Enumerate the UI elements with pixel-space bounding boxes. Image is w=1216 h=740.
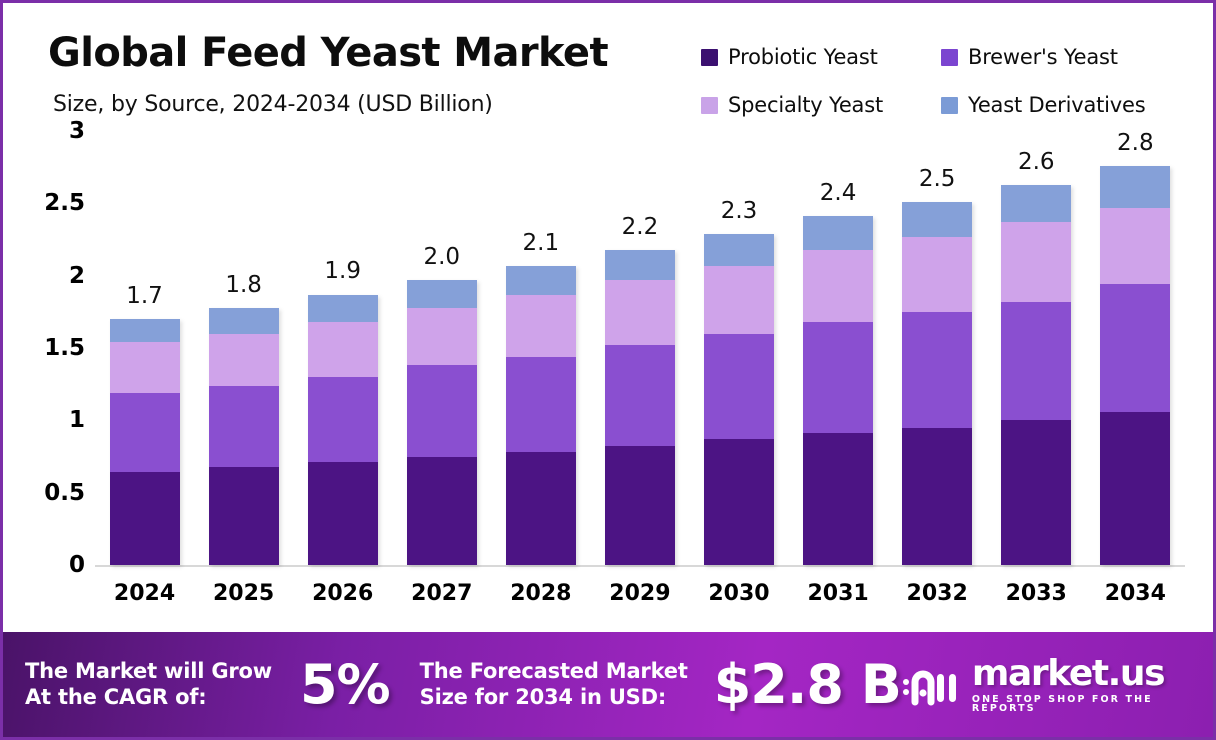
bar-segment-2026-probiotic-yeast [308, 462, 378, 565]
bar-total-label-2025: 1.8 [194, 272, 293, 298]
bar-column-2026[interactable]: 1.9 [293, 131, 392, 565]
bar-total-label-2027: 2.0 [392, 244, 491, 270]
bar-segment-2030-brewer-s-yeast [704, 334, 774, 440]
chart-header: Global Feed Yeast Market Size, by Source… [3, 3, 1213, 131]
legend-label-2: Specialty Yeast [728, 93, 883, 117]
bar-segment-2034-yeast-derivatives [1100, 166, 1170, 208]
y-axis-tick-0: 0 [69, 552, 85, 578]
chart-legend: Probiotic YeastBrewer's YeastSpecialty Y… [701, 33, 1201, 129]
bar-total-label-2029: 2.2 [590, 214, 689, 240]
infographic-root: Global Feed Yeast Market Size, by Source… [0, 0, 1216, 740]
x-axis-label-2031: 2031 [789, 581, 888, 606]
legend-label-3: Yeast Derivatives [968, 93, 1146, 117]
bar-segment-2030-yeast-derivatives [704, 234, 774, 266]
x-axis-baseline [95, 565, 1185, 567]
bar-segment-2025-probiotic-yeast [209, 467, 279, 565]
x-axis-label-2033: 2033 [987, 581, 1086, 606]
legend-swatch-specialty-yeast [701, 97, 718, 114]
legend-swatch-yeast-derivatives [941, 97, 958, 114]
bar-total-label-2030: 2.3 [690, 198, 789, 224]
bar-segment-2031-probiotic-yeast [803, 433, 873, 565]
x-axis-label-2024: 2024 [95, 581, 194, 606]
bar-segment-2031-brewer-s-yeast [803, 322, 873, 433]
cagr-block: The Market will Grow At the CAGR of: 5% [25, 653, 390, 716]
bar-segment-2026-brewer-s-yeast [308, 377, 378, 462]
bar-segment-2024-yeast-derivatives [110, 319, 180, 342]
bar-total-label-2028: 2.1 [491, 230, 590, 256]
bar-segment-2024-brewer-s-yeast [110, 393, 180, 473]
legend-swatch-brewers-yeast [941, 49, 958, 66]
bar-stack-2025 [209, 308, 279, 565]
legend-label-1: Brewer's Yeast [968, 45, 1118, 69]
y-axis-tick-6: 3 [69, 118, 85, 144]
bar-segment-2027-yeast-derivatives [407, 280, 477, 307]
x-axis-label-2025: 2025 [194, 581, 293, 606]
bar-segment-2027-specialty-yeast [407, 308, 477, 366]
logo-tagline: ONE STOP SHOP FOR THE REPORTS [972, 695, 1195, 714]
bar-segment-2026-yeast-derivatives [308, 295, 378, 322]
legend-item-0[interactable]: Probiotic Yeast [701, 45, 941, 69]
x-axis-label-2028: 2028 [491, 581, 590, 606]
bar-segment-2028-probiotic-yeast [506, 452, 576, 565]
y-axis-tick-4: 2 [69, 263, 85, 289]
bar-stack-2031 [803, 216, 873, 565]
bar-column-2024[interactable]: 1.7 [95, 131, 194, 565]
market-us-logo-icon [901, 662, 961, 708]
bar-column-2027[interactable]: 2.0 [392, 131, 491, 565]
x-axis-label-2027: 2027 [392, 581, 491, 606]
bar-total-label-2026: 1.9 [293, 258, 392, 284]
bar-segment-2034-brewer-s-yeast [1100, 284, 1170, 411]
bar-segment-2032-specialty-yeast [902, 237, 972, 312]
x-axis-label-2034: 2034 [1086, 581, 1185, 606]
bottom-banner: The Market will Grow At the CAGR of: 5% … [3, 632, 1213, 737]
bar-segment-2026-specialty-yeast [308, 322, 378, 377]
bar-segment-2030-specialty-yeast [704, 266, 774, 334]
legend-item-2[interactable]: Specialty Yeast [701, 93, 941, 117]
bar-segment-2033-brewer-s-yeast [1001, 302, 1071, 421]
bar-column-2034[interactable]: 2.8 [1086, 131, 1185, 565]
x-axis-label-2029: 2029 [590, 581, 689, 606]
bar-segment-2031-specialty-yeast [803, 250, 873, 322]
bar-total-label-2031: 2.4 [789, 180, 888, 206]
market-us-logo[interactable]: market.us ONE STOP SHOP FOR THE REPORTS [901, 656, 1195, 714]
bar-segment-2031-yeast-derivatives [803, 216, 873, 249]
bar-segment-2033-probiotic-yeast [1001, 420, 1071, 565]
bar-segment-2028-yeast-derivatives [506, 266, 576, 295]
bar-total-label-2033: 2.6 [987, 149, 1086, 175]
bar-total-label-2024: 1.7 [95, 283, 194, 309]
bar-stack-2027 [407, 280, 477, 565]
y-axis-tick-3: 1.5 [44, 335, 85, 361]
bar-stack-2034 [1100, 166, 1170, 565]
legend-swatch-probiotic-yeast [701, 49, 718, 66]
chart-subtitle: Size, by Source, 2024-2034 (USD Billion) [53, 92, 493, 117]
bar-column-2025[interactable]: 1.8 [194, 131, 293, 565]
bar-segment-2032-yeast-derivatives [902, 202, 972, 237]
legend-label-0: Probiotic Yeast [728, 45, 878, 69]
x-axis-label-2032: 2032 [888, 581, 987, 606]
page-title: Global Feed Yeast Market [48, 30, 608, 76]
legend-item-1[interactable]: Brewer's Yeast [941, 45, 1191, 69]
bar-stack-2028 [506, 266, 576, 565]
bar-segment-2024-probiotic-yeast [110, 472, 180, 565]
x-axis-label-2030: 2030 [690, 581, 789, 606]
bar-segment-2033-yeast-derivatives [1001, 185, 1071, 223]
forecast-label: The Forecasted Market Size for 2034 in U… [420, 659, 688, 710]
bar-column-2032[interactable]: 2.5 [888, 131, 987, 565]
bar-column-2030[interactable]: 2.3 [690, 131, 789, 565]
bar-stack-2030 [704, 234, 774, 565]
bar-column-2031[interactable]: 2.4 [789, 131, 888, 565]
bar-segment-2029-probiotic-yeast [605, 446, 675, 565]
bar-column-2033[interactable]: 2.6 [987, 131, 1086, 565]
y-axis-tick-1: 0.5 [44, 480, 85, 506]
bar-stack-2032 [902, 202, 972, 565]
forecast-label-line1: The Forecasted Market [420, 659, 688, 683]
bar-group: 1.71.81.92.02.12.22.32.42.52.62.8 [95, 131, 1185, 565]
bar-segment-2025-brewer-s-yeast [209, 386, 279, 467]
bar-stack-2033 [1001, 185, 1071, 565]
bar-segment-2025-specialty-yeast [209, 334, 279, 386]
bar-segment-2028-brewer-s-yeast [506, 357, 576, 452]
bar-total-label-2034: 2.8 [1086, 130, 1185, 156]
bar-segment-2030-probiotic-yeast [704, 439, 774, 565]
bar-segment-2027-brewer-s-yeast [407, 365, 477, 456]
forecast-block: The Forecasted Market Size for 2034 in U… [420, 653, 901, 716]
bar-segment-2029-specialty-yeast [605, 280, 675, 345]
cagr-label: The Market will Grow At the CAGR of: [25, 659, 272, 710]
bar-column-2029[interactable]: 2.2 [590, 131, 689, 565]
forecast-label-line2: Size for 2034 in USD: [420, 685, 666, 709]
bar-stack-2024 [110, 319, 180, 565]
bar-stack-2026 [308, 295, 378, 566]
y-axis-tick-2: 1 [69, 407, 85, 433]
bar-total-label-2032: 2.5 [888, 166, 987, 192]
legend-item-3[interactable]: Yeast Derivatives [941, 93, 1191, 117]
bar-segment-2027-probiotic-yeast [407, 457, 477, 566]
bar-segment-2024-specialty-yeast [110, 342, 180, 393]
bar-segment-2033-specialty-yeast [1001, 222, 1071, 302]
bar-segment-2034-probiotic-yeast [1100, 412, 1170, 565]
bar-segment-2029-brewer-s-yeast [605, 345, 675, 446]
bar-segment-2028-specialty-yeast [506, 295, 576, 357]
bar-column-2028[interactable]: 2.1 [491, 131, 590, 565]
bar-segment-2029-yeast-derivatives [605, 250, 675, 280]
cagr-value: 5% [300, 653, 390, 716]
bar-segment-2034-specialty-yeast [1100, 208, 1170, 285]
bar-segment-2025-yeast-derivatives [209, 308, 279, 334]
chart-plot-area: 00.511.522.53 1.71.81.92.02.12.22.32.42.… [3, 131, 1216, 621]
market-us-logo-text: market.us ONE STOP SHOP FOR THE REPORTS [972, 656, 1195, 714]
x-axis-label-2026: 2026 [293, 581, 392, 606]
logo-wordmark: market.us [972, 656, 1195, 692]
cagr-label-line1: The Market will Grow [25, 659, 272, 683]
bar-stack-2029 [605, 250, 675, 565]
y-axis: 00.511.522.53 [3, 131, 95, 565]
bar-segment-2032-probiotic-yeast [902, 428, 972, 565]
y-axis-tick-5: 2.5 [44, 190, 85, 216]
bar-segment-2032-brewer-s-yeast [902, 312, 972, 428]
cagr-label-line2: At the CAGR of: [25, 685, 207, 709]
x-axis-labels: 2024202520262027202820292030203120322033… [95, 571, 1185, 615]
forecast-value: $2.8 B [714, 653, 901, 716]
